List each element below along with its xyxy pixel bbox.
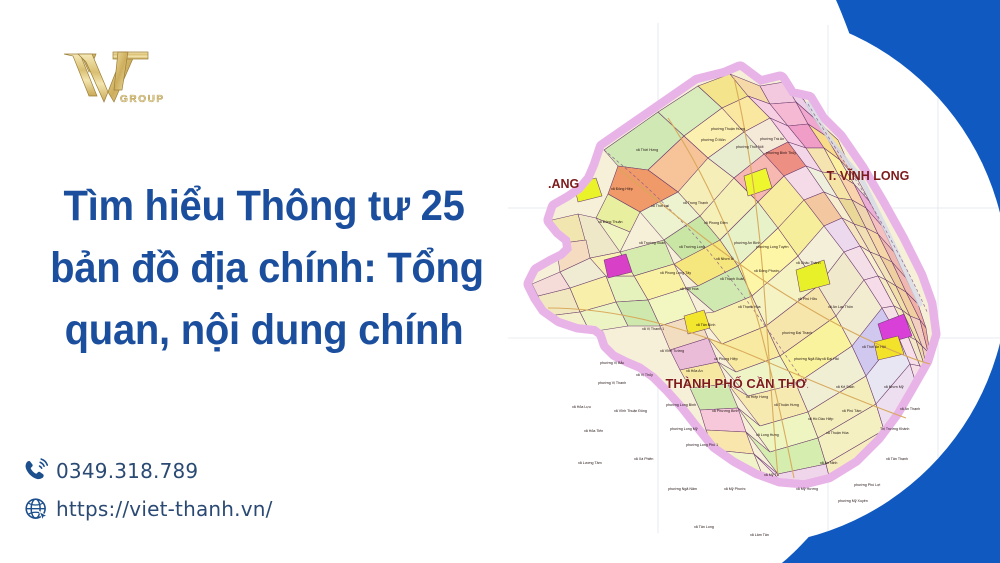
svg-text:xã Tân Bình: xã Tân Bình bbox=[696, 323, 715, 327]
svg-text:xã Đông Thuận: xã Đông Thuận bbox=[598, 220, 623, 224]
svg-text:xã An Thạnh: xã An Thạnh bbox=[900, 407, 920, 411]
map-label-can-tho: THÀNH PHỐ CẦN THƠ bbox=[665, 376, 807, 391]
svg-text:xã Phương Bình: xã Phương Bình bbox=[712, 409, 738, 413]
svg-text:xã Đông Hiệp: xã Đông Hiệp bbox=[611, 187, 633, 191]
svg-text:phường Long Mỹ: phường Long Mỹ bbox=[670, 427, 698, 431]
svg-text:xã Tân Long: xã Tân Long bbox=[694, 525, 714, 529]
svg-text:xã Mỹ Hương: xã Mỹ Hương bbox=[796, 487, 818, 491]
svg-text:Thị Trường Khánh: Thị Trường Khánh bbox=[880, 427, 909, 431]
svg-text:xã Nhơn Ái: xã Nhơn Ái bbox=[716, 257, 734, 261]
svg-text:phường Bình Thủy: phường Bình Thủy bbox=[766, 151, 796, 155]
svg-text:xã Đại Hải: xã Đại Hải bbox=[822, 357, 839, 361]
svg-text:xã An Ninh: xã An Ninh bbox=[820, 461, 837, 465]
svg-text:xã Mỹ Tú: xã Mỹ Tú bbox=[764, 473, 779, 477]
svg-text:phường Long Bình: phường Long Bình bbox=[666, 403, 696, 407]
svg-text:xã Tân Hòa: xã Tân Hòa bbox=[680, 287, 699, 291]
svg-text:xã Lâm Tân: xã Lâm Tân bbox=[750, 533, 769, 537]
svg-text:xã Nhơn Mỹ: xã Nhơn Mỹ bbox=[884, 385, 904, 389]
title-line-2: bản đồ địa chính: Tổng bbox=[50, 238, 478, 300]
svg-text:xã Phú Tâm: xã Phú Tâm bbox=[842, 409, 861, 413]
svg-text:phường Long Phú 1: phường Long Phú 1 bbox=[686, 443, 718, 447]
svg-text:xã Phú Hữu: xã Phú Hữu bbox=[798, 297, 817, 301]
svg-text:phường Long Tuyền: phường Long Tuyền bbox=[756, 245, 789, 249]
svg-text:xã Thới An Hội: xã Thới An Hội bbox=[862, 345, 886, 349]
svg-text:xã Vị Thủy: xã Vị Thủy bbox=[636, 373, 653, 377]
svg-text:xã Phụng Hiệp: xã Phụng Hiệp bbox=[714, 357, 738, 361]
svg-text:xã Vị Thanh 1: xã Vị Thanh 1 bbox=[642, 327, 664, 331]
svg-text:xã Trường Xuân: xã Trường Xuân bbox=[639, 241, 665, 245]
globe-cursor-icon bbox=[16, 492, 56, 526]
svg-text:xã Vĩnh Tường: xã Vĩnh Tường bbox=[660, 349, 684, 353]
svg-text:xã Hỏa An: xã Hỏa An bbox=[686, 369, 703, 373]
svg-text:xã Thới Lai: xã Thới Lai bbox=[651, 204, 669, 208]
svg-text:xã Hỏa Tiến: xã Hỏa Tiến bbox=[584, 429, 603, 433]
contact-block: 0349.318.789 https://viet-thanh.vn/ bbox=[16, 452, 446, 528]
svg-text:phường Ngã Năm: phường Ngã Năm bbox=[668, 487, 697, 491]
map-label-an-giang: .ANG bbox=[548, 177, 579, 191]
svg-text:xã Hỏa Lựu: xã Hỏa Lựu bbox=[572, 405, 591, 409]
svg-text:xã Đại Hòa: xã Đại Hòa bbox=[770, 557, 788, 561]
svg-text:xã Vĩnh Thuận Đông: xã Vĩnh Thuận Đông bbox=[614, 409, 647, 413]
website-url: https://viet-thanh.vn/ bbox=[56, 497, 273, 521]
svg-text:xã Xà Phiên: xã Xà Phiên bbox=[634, 457, 653, 461]
svg-text:xã Trung Thạnh: xã Trung Thạnh bbox=[683, 201, 708, 205]
phone-number: 0349.318.789 bbox=[56, 459, 198, 483]
svg-text:xã Hồ Dầu Hiệp: xã Hồ Dầu Hiệp bbox=[808, 417, 833, 421]
svg-text:phường Đại Thạnh: phường Đại Thạnh bbox=[782, 331, 812, 335]
contact-phone-row[interactable]: 0349.318.789 bbox=[16, 452, 446, 490]
svg-text:xã Thuận Hòa: xã Thuận Hòa bbox=[826, 431, 849, 435]
svg-text:xã Phong Long Tây: xã Phong Long Tây bbox=[660, 271, 691, 275]
vt-group-logo: GROUP bbox=[56, 44, 166, 112]
svg-text:phường Vị Thanh: phường Vị Thanh bbox=[598, 381, 626, 385]
contact-website-row[interactable]: https://viet-thanh.vn/ bbox=[16, 490, 446, 528]
svg-text:xã Kế Sách: xã Kế Sách bbox=[836, 385, 854, 389]
map-label-vinh-long: T. VĨNH LONG bbox=[827, 168, 910, 183]
banner-title: Tìm hiểu Thông tư 25 bản đồ địa chính: T… bbox=[50, 176, 478, 362]
svg-text:xã Ngọc Tố: xã Ngọc Tố bbox=[838, 549, 856, 553]
svg-text:xã Nhu Gia: xã Nhu Gia bbox=[794, 545, 812, 549]
svg-text:phường Thuận Hưng: phường Thuận Hưng bbox=[711, 127, 745, 131]
svg-text:xã An Lạc Thôn: xã An Lạc Thôn bbox=[828, 305, 853, 309]
title-line-3: quan, nội dung chính bbox=[50, 300, 478, 362]
svg-text:xã Thạnh Xuân: xã Thạnh Xuân bbox=[720, 277, 744, 281]
svg-text:xã Thạnh Hòa: xã Thạnh Hòa bbox=[738, 305, 761, 309]
svg-text:xã Thới Hưng: xã Thới Hưng bbox=[636, 148, 658, 152]
svg-text:phường Ngã Bảy: phường Ngã Bảy bbox=[794, 357, 822, 361]
svg-text:xã Đông Phước: xã Đông Phước bbox=[754, 269, 780, 273]
svg-text:phường Ô Môn: phường Ô Môn bbox=[701, 137, 726, 142]
logo-group-text: GROUP bbox=[120, 94, 165, 105]
can-tho-administrative-map: xã Thới Hưng phường Ô Môn xã Đông Hiệp x… bbox=[508, 8, 1000, 563]
banner-root: GROUP Tìm hiểu Thông tư 25 bản đồ địa ch… bbox=[0, 0, 1000, 563]
svg-text:xã Châu Thành: xã Châu Thành bbox=[796, 261, 821, 265]
svg-text:phường Vị Bắc: phường Vị Bắc bbox=[600, 360, 624, 365]
svg-text:xã Trường Long: xã Trường Long bbox=[679, 245, 705, 249]
svg-text:xã Phong Điền: xã Phong Điền bbox=[704, 221, 728, 225]
svg-text:xã Lương Tâm: xã Lương Tâm bbox=[578, 461, 602, 465]
svg-text:xã Thạnh Thới An: xã Thạnh Thới An bbox=[868, 543, 896, 547]
svg-text:phường Mỹ Quới: phường Mỹ Quới bbox=[656, 547, 684, 551]
svg-text:xã Thuận Hưng: xã Thuận Hưng bbox=[774, 403, 799, 407]
svg-text:xã Hiệp Hưng: xã Hiệp Hưng bbox=[746, 395, 768, 399]
svg-text:xã Tân Thạnh: xã Tân Thạnh bbox=[886, 457, 908, 461]
svg-text:phường Phú Lợi: phường Phú Lợi bbox=[854, 483, 881, 487]
svg-text:phường Trà An: phường Trà An bbox=[760, 137, 784, 141]
svg-text:phường Mỹ Xuyên: phường Mỹ Xuyên bbox=[838, 499, 868, 503]
title-line-1: Tìm hiểu Thông tư 25 bbox=[50, 176, 478, 238]
svg-text:xã Vĩnh Lợi: xã Vĩnh Lợi bbox=[690, 557, 709, 561]
svg-text:xã Mỹ Phước: xã Mỹ Phước bbox=[724, 487, 746, 491]
svg-text:xã Tài Văn: xã Tài Văn bbox=[898, 497, 915, 501]
svg-text:xã Long Hưng: xã Long Hưng bbox=[756, 433, 779, 437]
svg-text:phường Thốt Nốt: phường Thốt Nốt bbox=[736, 145, 763, 149]
svg-text:xã Phú Lộc: xã Phú Lộc bbox=[722, 557, 740, 561]
phone-call-icon bbox=[16, 454, 56, 488]
